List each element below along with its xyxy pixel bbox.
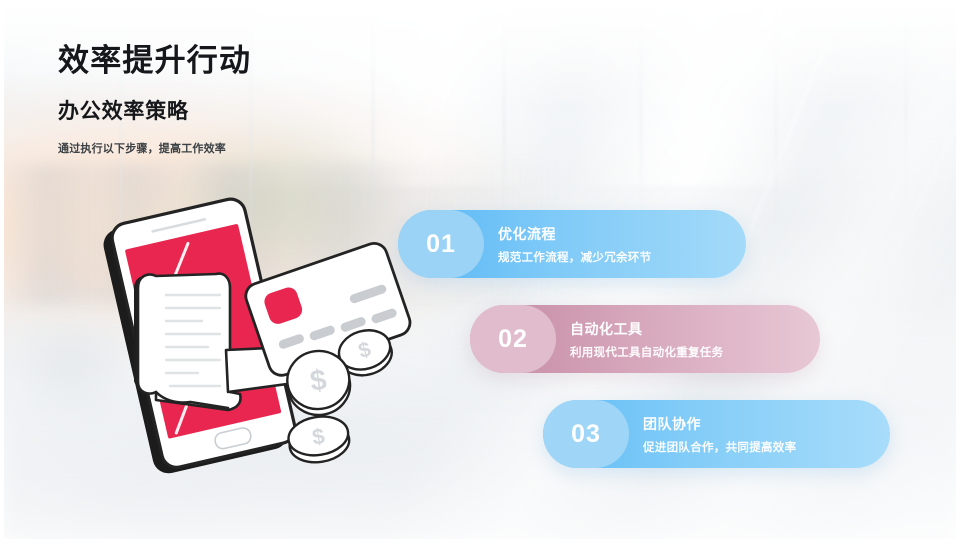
step-description-1: 规范工作流程，减少冗余环节 xyxy=(498,249,651,265)
step-number-3: 03 xyxy=(571,422,601,447)
slide-canvas: 效率提升行动 办公效率策略 通过执行以下步骤，提高工作效率 xyxy=(0,0,960,548)
step-number-badge-3: 03 xyxy=(543,400,629,468)
step-text-2: 自动化工具 利用现代工具自动化重复任务 xyxy=(570,319,723,360)
step-text-1: 优化流程 规范工作流程，减少冗余环节 xyxy=(498,224,651,265)
step-item-3[interactable]: 03 团队协作 促进团队合作，共同提高效率 xyxy=(543,400,890,468)
step-number-badge-1: 01 xyxy=(398,210,484,278)
step-description-3: 促进团队合作，共同提高效率 xyxy=(643,439,796,455)
step-number-1: 01 xyxy=(426,232,456,257)
step-item-2[interactable]: 02 自动化工具 利用现代工具自动化重复任务 xyxy=(470,305,820,373)
step-item-1[interactable]: 01 优化流程 规范工作流程，减少冗余环节 xyxy=(398,210,746,278)
step-heading-2: 自动化工具 xyxy=(570,319,723,339)
steps-list: 01 优化流程 规范工作流程，减少冗余环节 02 自动化工具 利用现代工具自动化… xyxy=(0,0,960,548)
step-number-badge-2: 02 xyxy=(470,305,556,373)
step-description-2: 利用现代工具自动化重复任务 xyxy=(570,344,723,360)
step-heading-1: 优化流程 xyxy=(498,224,651,244)
step-number-2: 02 xyxy=(498,327,528,352)
step-text-3: 团队协作 促进团队合作，共同提高效率 xyxy=(643,414,796,455)
step-heading-3: 团队协作 xyxy=(643,414,796,434)
